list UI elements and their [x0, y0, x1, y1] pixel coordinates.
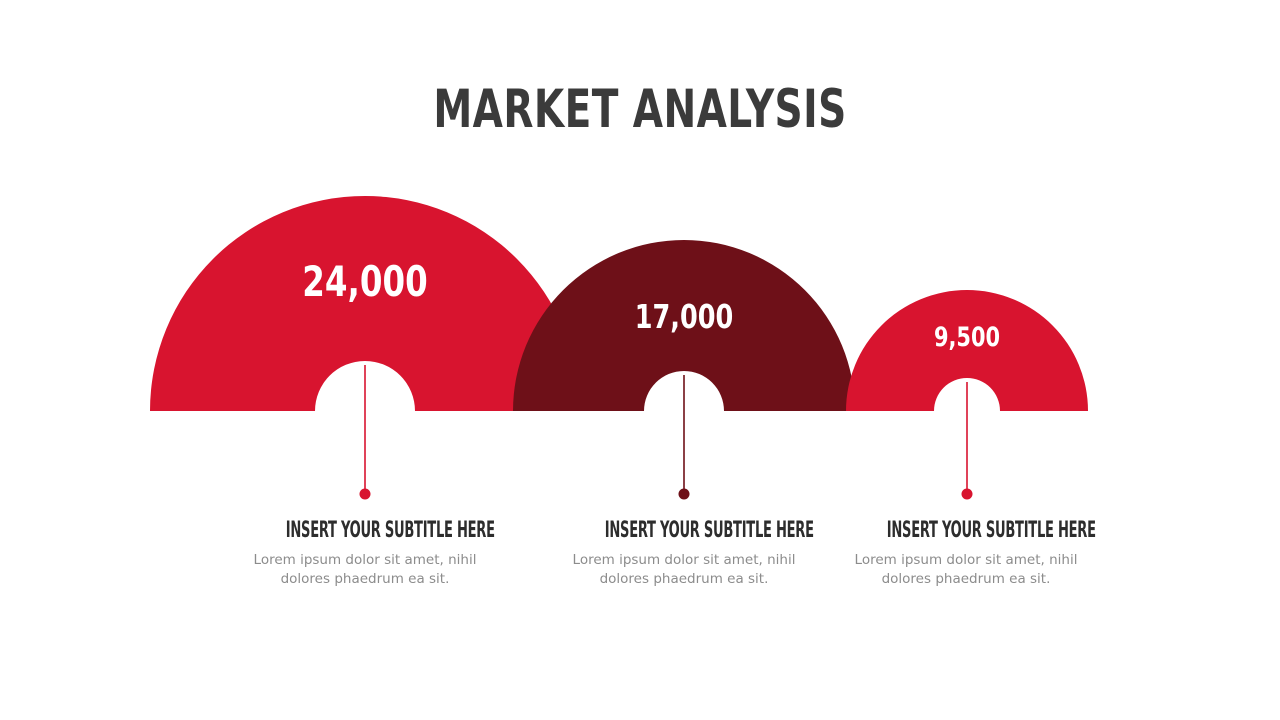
- arc-connector-dot-1: [360, 489, 371, 500]
- caption-body-2: Lorem ipsum dolor sit amet, nihil dolore…: [564, 551, 804, 589]
- caption-title-2: INSERT YOUR SUBTITLE HERE: [605, 518, 763, 544]
- arc-group-1[interactable]: [150, 196, 580, 500]
- arc-connector-dot-2: [679, 489, 690, 500]
- semicircle-arc-chart: [0, 0, 1280, 520]
- caption-title-3: INSERT YOUR SUBTITLE HERE: [887, 518, 1045, 544]
- arc-value-label-3: 9,500: [898, 322, 1036, 354]
- arc-group-2[interactable]: [513, 240, 855, 500]
- caption-block-1: INSERT YOUR SUBTITLE HERE Lorem ipsum do…: [245, 518, 485, 589]
- slide-canvas: MARKET ANALYSIS 24,000 17,00: [0, 0, 1280, 720]
- arc-value-label-1: 24,000: [279, 258, 451, 306]
- arc-chart-svg: [0, 0, 1280, 520]
- arc-connector-dot-3: [962, 489, 973, 500]
- arc-value-label-2: 17,000: [607, 298, 762, 336]
- caption-title-1: INSERT YOUR SUBTITLE HERE: [286, 518, 444, 544]
- caption-block-2: INSERT YOUR SUBTITLE HERE Lorem ipsum do…: [564, 518, 804, 589]
- caption-block-3: INSERT YOUR SUBTITLE HERE Lorem ipsum do…: [846, 518, 1086, 589]
- caption-body-1: Lorem ipsum dolor sit amet, nihil dolore…: [245, 551, 485, 589]
- caption-body-3: Lorem ipsum dolor sit amet, nihil dolore…: [846, 551, 1086, 589]
